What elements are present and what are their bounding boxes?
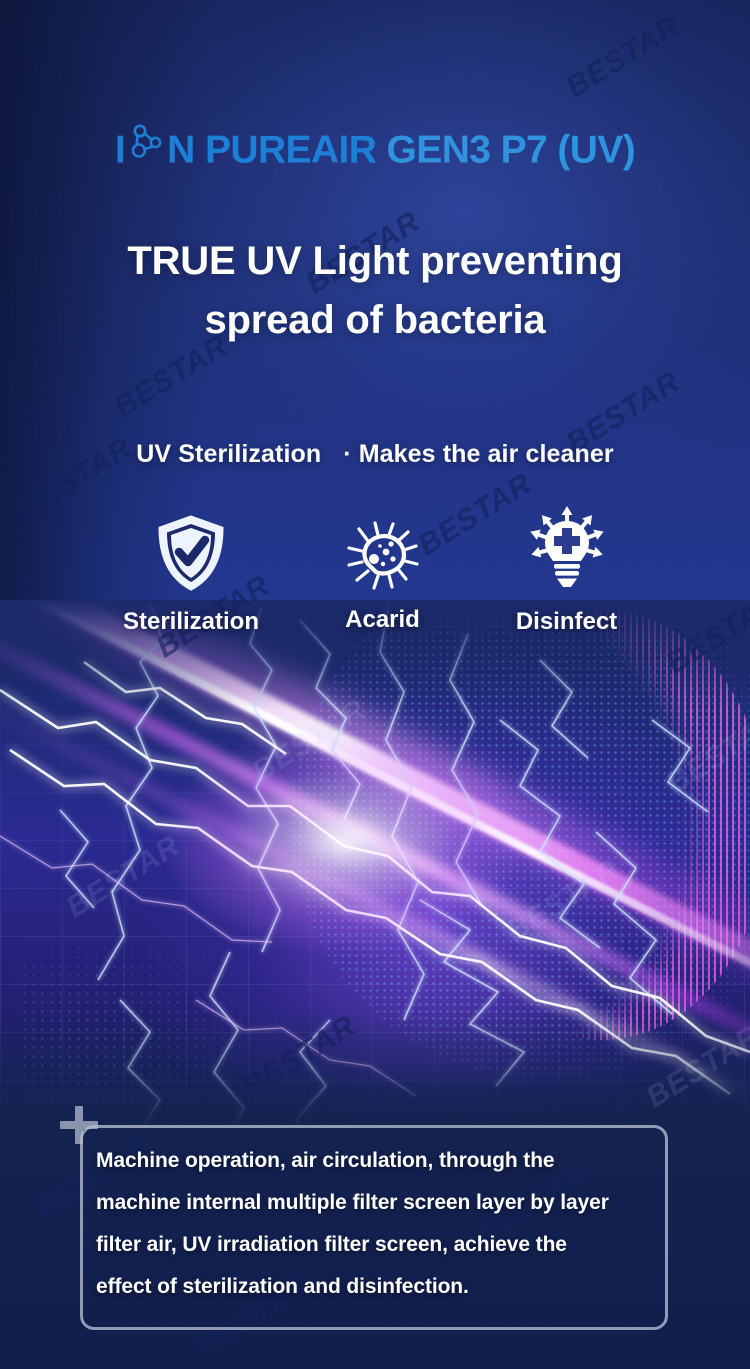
page-title: TRUE UV Light preventing spread of bacte… <box>0 232 750 350</box>
headline-line-2: spread of bacteria <box>0 291 750 350</box>
feature-sterilization: Sterilization <box>96 513 286 636</box>
subheadline-right: · Makes the air cleaner <box>343 440 614 468</box>
feature-list: Sterilization <box>96 505 654 636</box>
note-line-4: effect of sterilization and disinfection… <box>96 1266 676 1308</box>
note-text: Machine operation, air circulation, thro… <box>96 1140 676 1308</box>
feature-acarid: Acarid <box>313 519 453 636</box>
feature-label: Disinfect <box>479 608 654 636</box>
poster-content: IN PUREAIR GEN3 P7 (UV) TRUE UV Light pr… <box>0 0 750 1369</box>
subheadline-left: UV Sterilization <box>136 440 321 468</box>
brand-title: IN PUREAIR GEN3 P7 (UV) <box>0 122 750 169</box>
feature-label: Sterilization <box>96 608 286 636</box>
note-line-3: filter air, UV irradiation filter screen… <box>96 1224 676 1266</box>
bacteria-icon <box>313 519 453 596</box>
bulb-cross-rays-icon <box>479 505 654 598</box>
brand-prefix: I <box>115 128 125 171</box>
plus-icon <box>60 1106 98 1144</box>
feature-label: Acarid <box>313 606 453 634</box>
shield-check-icon <box>96 513 286 598</box>
brand-suffix: N <box>167 128 195 171</box>
feature-disinfect: Disinfect <box>479 505 654 636</box>
brand-model: GEN3 P7 (UV) <box>376 128 635 171</box>
brand-product: PUREAIR <box>195 128 377 171</box>
note-line-2: machine internal multiple filter screen … <box>96 1182 676 1224</box>
ion-molecule-icon <box>126 122 166 162</box>
note-line-1: Machine operation, air circulation, thro… <box>96 1140 676 1182</box>
uv-product-poster: BESTARBESTARBESTARBESTARBESTARBESTARBEST… <box>0 0 750 1369</box>
headline-line-1: TRUE UV Light preventing <box>127 239 622 283</box>
subheadline: UV Sterilization· Makes the air cleaner <box>0 440 750 469</box>
